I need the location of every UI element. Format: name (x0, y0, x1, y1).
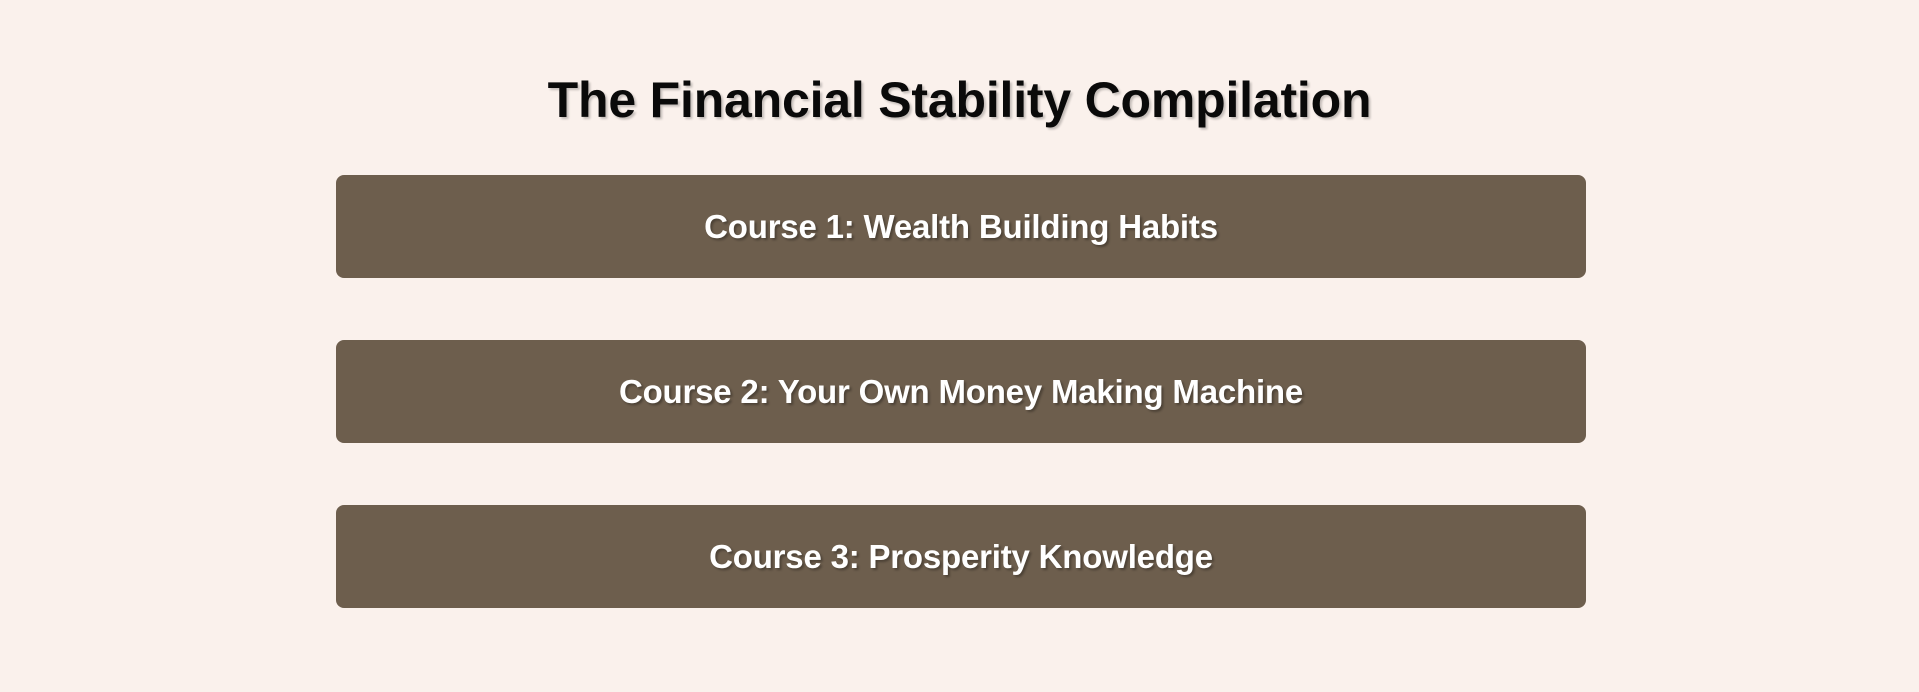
course-landing-page: The Financial Stability Compilation Cour… (0, 0, 1919, 692)
course-button-2-label: Course 2: Your Own Money Making Machine (619, 372, 1303, 412)
course-button-3[interactable]: Course 3: Prosperity Knowledge (336, 505, 1586, 608)
course-button-3-label: Course 3: Prosperity Knowledge (709, 537, 1213, 577)
page-title: The Financial Stability Compilation (0, 70, 1919, 130)
course-button-2[interactable]: Course 2: Your Own Money Making Machine (336, 340, 1586, 443)
course-button-list: Course 1: Wealth Building Habits Course … (336, 175, 1586, 608)
course-button-1-label: Course 1: Wealth Building Habits (704, 207, 1218, 247)
course-button-1[interactable]: Course 1: Wealth Building Habits (336, 175, 1586, 278)
